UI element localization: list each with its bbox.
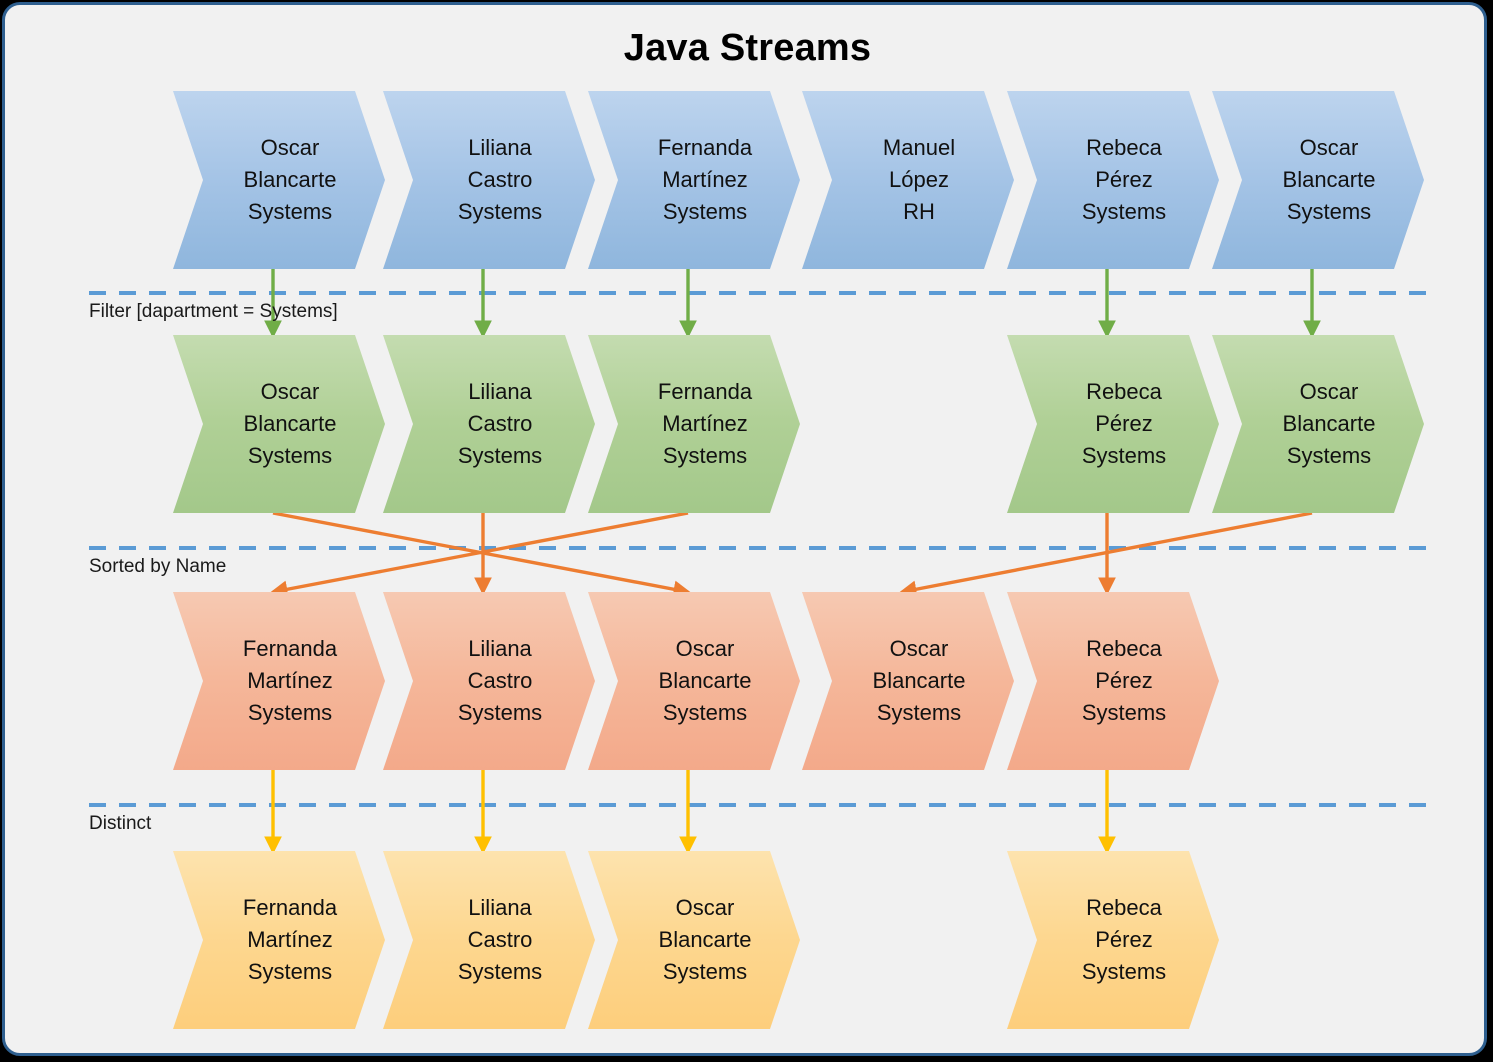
chevron-source-3[interactable]: FernandaMartínezSystems xyxy=(588,91,800,269)
chevron-source-6[interactable]: OscarBlancarteSystems xyxy=(1212,91,1424,269)
chevron-last-name: Blancarte xyxy=(244,164,337,196)
chevron-source-5[interactable]: RebecaPérezSystems xyxy=(1007,91,1219,269)
chevron-last-name: Castro xyxy=(458,924,542,956)
stage-row-source: OscarBlancarteSystemsLilianaCastroSystem… xyxy=(5,91,1487,269)
stage-row-sorted: FernandaMartínezSystemsLilianaCastroSyst… xyxy=(5,592,1487,770)
chevron-last-name: Martínez xyxy=(658,164,752,196)
arrow-filter_to_sorted-6-to-4 xyxy=(902,513,1312,592)
arrows-sorted-to-distinct xyxy=(273,770,1107,851)
chevron-distinct-3[interactable]: OscarBlancarteSystems xyxy=(588,851,800,1029)
chevron-first-name: Oscar xyxy=(659,892,752,924)
chevron-source-1[interactable]: OscarBlancarteSystems xyxy=(173,91,385,269)
chevron-first-name: Rebeca xyxy=(1082,892,1166,924)
stage-label-sorted: Sorted by Name xyxy=(89,556,226,578)
chevron-last-name: Blancarte xyxy=(1283,408,1376,440)
chevron-department: Systems xyxy=(658,196,752,228)
chevron-department: Systems xyxy=(658,440,752,472)
chevron-department: Systems xyxy=(1082,956,1166,988)
chevron-department: Systems xyxy=(1283,196,1376,228)
chevron-last-name: Blancarte xyxy=(873,665,966,697)
chevron-last-name: Castro xyxy=(458,164,542,196)
chevron-first-name: Liliana xyxy=(458,376,542,408)
chevron-first-name: Fernanda xyxy=(658,132,752,164)
diagram-frame: Java Streams Filter [dapartment = System… xyxy=(2,2,1487,1056)
chevron-last-name: Blancarte xyxy=(1283,164,1376,196)
chevron-first-name: Rebeca xyxy=(1082,376,1166,408)
stage-label-filter: Filter [dapartment = Systems] xyxy=(89,301,338,323)
stage-label-distinct: Distinct xyxy=(89,813,151,835)
chevron-first-name: Oscar xyxy=(659,633,752,665)
chevron-department: Systems xyxy=(458,697,542,729)
chevron-department: Systems xyxy=(458,956,542,988)
chevron-last-name: Blancarte xyxy=(659,924,752,956)
chevron-last-name: Pérez xyxy=(1082,924,1166,956)
chevron-first-name: Oscar xyxy=(244,376,337,408)
chevron-first-name: Fernanda xyxy=(243,633,337,665)
chevron-first-name: Fernanda xyxy=(658,376,752,408)
chevron-source-2[interactable]: LilianaCastroSystems xyxy=(383,91,595,269)
chevron-first-name: Liliana xyxy=(458,892,542,924)
chevron-department: Systems xyxy=(1082,697,1166,729)
chevron-first-name: Liliana xyxy=(458,633,542,665)
chevron-first-name: Rebeca xyxy=(1082,132,1166,164)
chevron-last-name: Pérez xyxy=(1082,164,1166,196)
chevron-department: Systems xyxy=(659,697,752,729)
chevron-department: Systems xyxy=(458,440,542,472)
chevron-last-name: Blancarte xyxy=(659,665,752,697)
chevron-sorted-2[interactable]: LilianaCastroSystems xyxy=(383,592,595,770)
chevron-last-name: Blancarte xyxy=(244,408,337,440)
chevron-department: Systems xyxy=(244,196,337,228)
chevron-first-name: Oscar xyxy=(1283,376,1376,408)
chevron-last-name: López xyxy=(883,164,955,196)
chevron-distinct-2[interactable]: LilianaCastroSystems xyxy=(383,851,595,1029)
chevron-last-name: Castro xyxy=(458,408,542,440)
chevron-sorted-4[interactable]: OscarBlancarteSystems xyxy=(802,592,1014,770)
chevron-first-name: Fernanda xyxy=(243,892,337,924)
chevron-last-name: Martínez xyxy=(243,924,337,956)
chevron-department: RH xyxy=(883,196,955,228)
chevron-last-name: Martínez xyxy=(243,665,337,697)
chevron-department: Systems xyxy=(659,956,752,988)
arrow-filter_to_sorted-3-to-1 xyxy=(273,513,688,592)
chevron-filter-6[interactable]: OscarBlancarteSystems xyxy=(1212,335,1424,513)
chevron-filter-1[interactable]: OscarBlancarteSystems xyxy=(173,335,385,513)
chevron-department: Systems xyxy=(243,956,337,988)
chevron-department: Systems xyxy=(1283,440,1376,472)
chevron-distinct-1[interactable]: FernandaMartínezSystems xyxy=(173,851,385,1029)
chevron-department: Systems xyxy=(1082,440,1166,472)
chevron-last-name: Martínez xyxy=(658,408,752,440)
arrows-source-to-filter xyxy=(273,269,1312,335)
chevron-sorted-1[interactable]: FernandaMartínezSystems xyxy=(173,592,385,770)
chevron-first-name: Oscar xyxy=(244,132,337,164)
arrow-filter_to_sorted-1-to-3 xyxy=(273,513,688,592)
stage-row-filter: OscarBlancarteSystemsLilianaCastroSystem… xyxy=(5,335,1487,513)
chevron-sorted-3[interactable]: OscarBlancarteSystems xyxy=(588,592,800,770)
chevron-filter-3[interactable]: FernandaMartínezSystems xyxy=(588,335,800,513)
chevron-department: Systems xyxy=(1082,196,1166,228)
page-title: Java Streams xyxy=(5,27,1487,70)
chevron-filter-2[interactable]: LilianaCastroSystems xyxy=(383,335,595,513)
chevron-distinct-5[interactable]: RebecaPérezSystems xyxy=(1007,851,1219,1029)
chevron-department: Systems xyxy=(244,440,337,472)
chevron-first-name: Oscar xyxy=(1283,132,1376,164)
chevron-first-name: Manuel xyxy=(883,132,955,164)
stage-row-distinct: FernandaMartínezSystemsLilianaCastroSyst… xyxy=(5,851,1487,1029)
chevron-last-name: Castro xyxy=(458,665,542,697)
chevron-filter-5[interactable]: RebecaPérezSystems xyxy=(1007,335,1219,513)
chevron-first-name: Liliana xyxy=(458,132,542,164)
chevron-department: Systems xyxy=(873,697,966,729)
chevron-first-name: Oscar xyxy=(873,633,966,665)
chevron-last-name: Pérez xyxy=(1082,665,1166,697)
chevron-department: Systems xyxy=(458,196,542,228)
diagram-canvas: Java Streams Filter [dapartment = System… xyxy=(5,5,1487,1056)
arrows-filter-to-sorted xyxy=(273,513,1312,592)
chevron-department: Systems xyxy=(243,697,337,729)
chevron-source-4[interactable]: ManuelLópezRH xyxy=(802,91,1014,269)
chevron-last-name: Pérez xyxy=(1082,408,1166,440)
chevron-sorted-5[interactable]: RebecaPérezSystems xyxy=(1007,592,1219,770)
chevron-first-name: Rebeca xyxy=(1082,633,1166,665)
